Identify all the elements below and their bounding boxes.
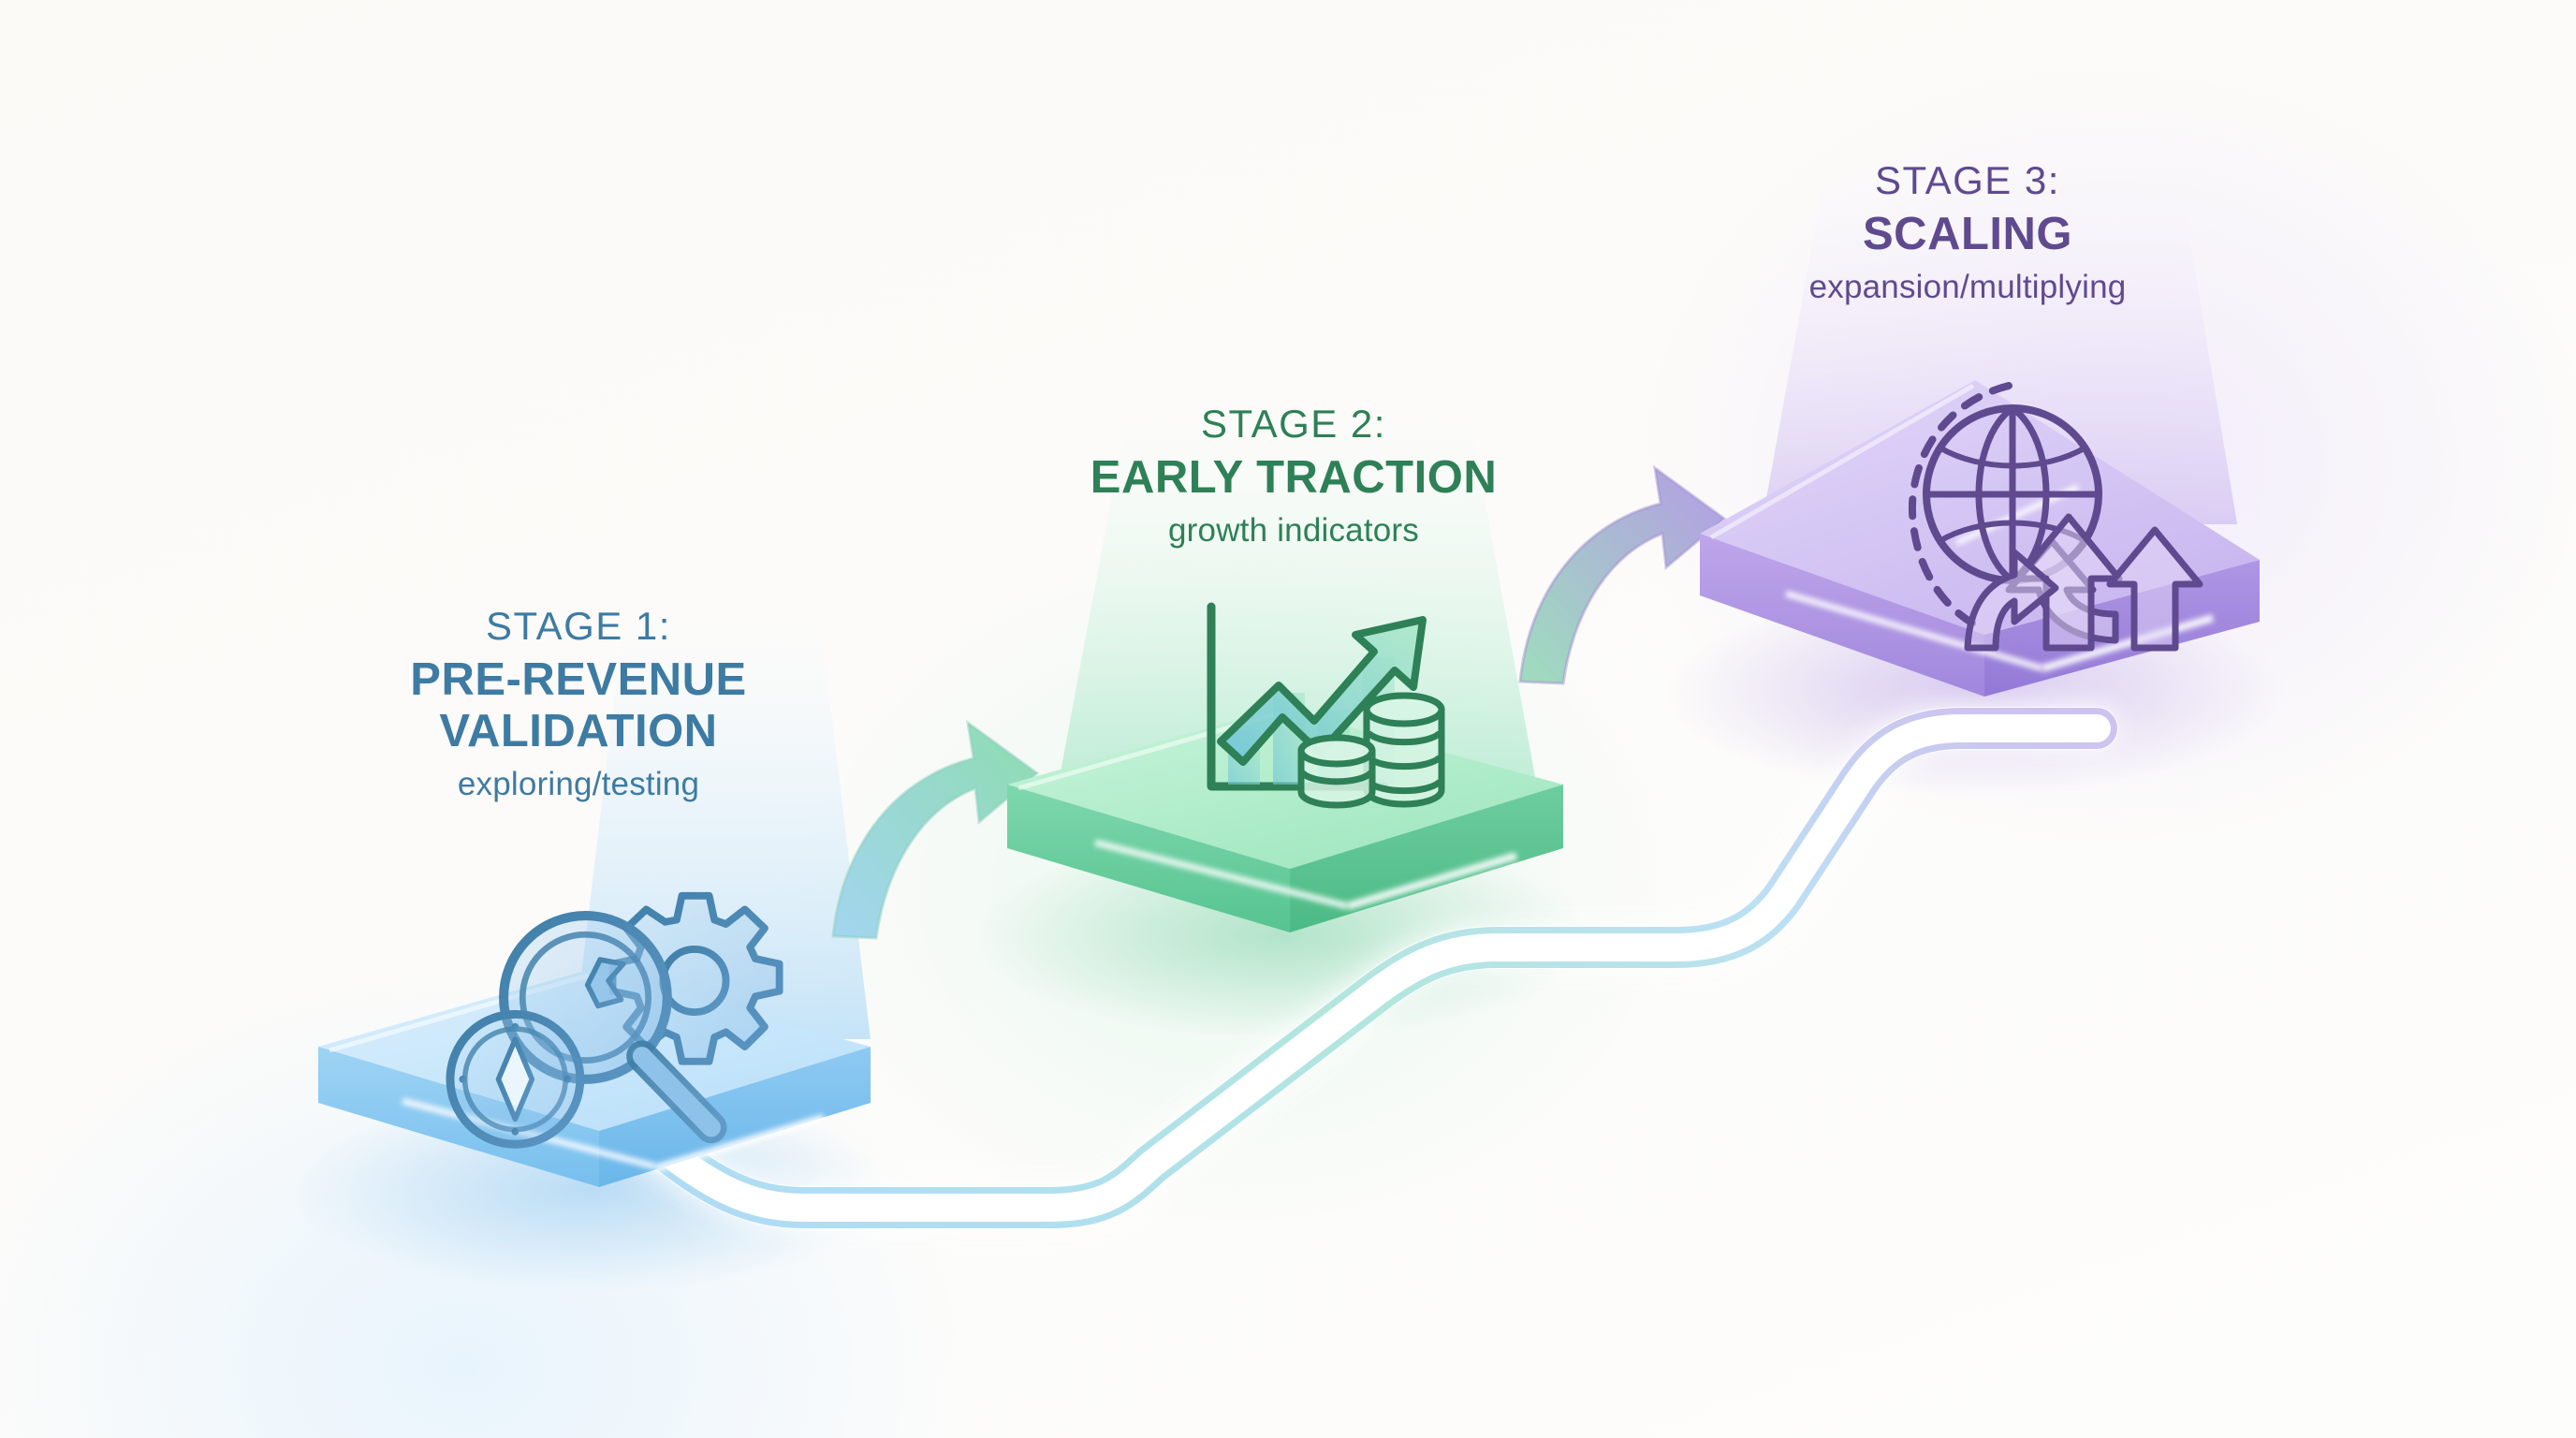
isometric-stage-diagram bbox=[0, 0, 2576, 1438]
infographic-canvas: STAGE 1: PRE-REVENUE VALIDATION explorin… bbox=[0, 0, 2576, 1438]
